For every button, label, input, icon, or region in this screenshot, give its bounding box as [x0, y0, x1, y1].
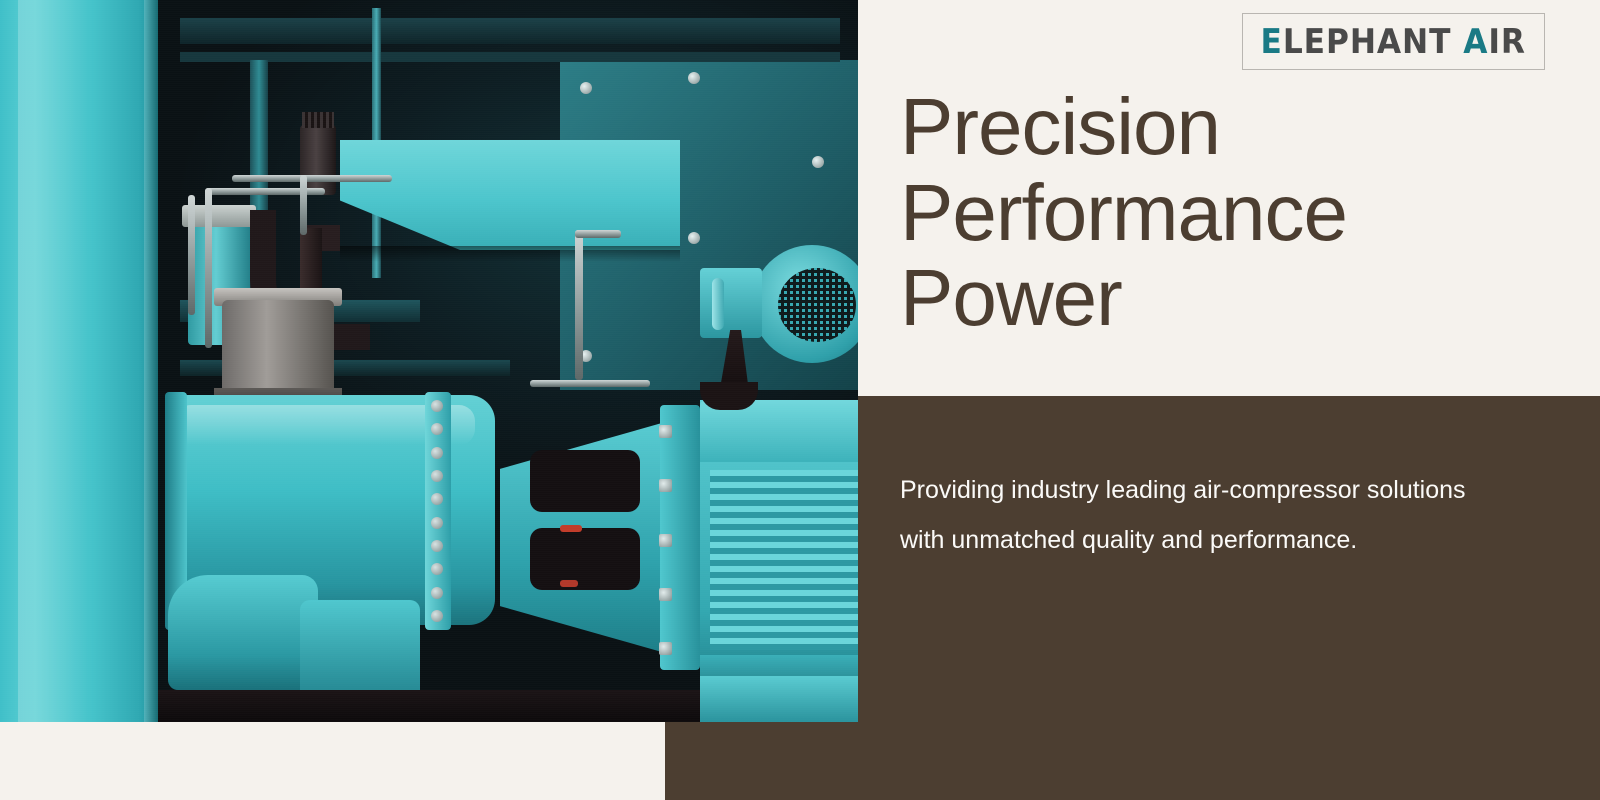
- photo-coupling-window: [530, 528, 640, 590]
- photo-red-marker: [560, 580, 578, 587]
- photo-lower-block: [300, 600, 420, 700]
- headline-line-3: Power: [900, 255, 1560, 341]
- photo-tube: [188, 195, 195, 315]
- headline-line-1: Precision: [900, 84, 1560, 170]
- footer-brown-block: [665, 722, 858, 800]
- photo-tube: [530, 380, 650, 387]
- photo-red-marker: [560, 525, 582, 532]
- photo-floor-teal-base: [700, 676, 858, 722]
- hero-description: Providing industry leading air-compresso…: [900, 466, 1510, 565]
- photo-junction-box: [700, 268, 762, 338]
- hero-photo: [0, 0, 858, 722]
- photo-tube: [232, 175, 392, 182]
- photo-motor-mount-bolts: [655, 425, 701, 655]
- photo-door-highlight: [18, 0, 88, 722]
- photo-cabinet-door: [0, 0, 158, 722]
- brand-logo-text: ELEPHANT AIR: [1261, 22, 1526, 62]
- footer-cream-block: [0, 722, 665, 800]
- brown-panel: [858, 396, 1600, 800]
- photo-coupling-window: [530, 450, 640, 512]
- photo-motor-cooling-fins: [710, 470, 858, 650]
- brand-logo[interactable]: ELEPHANT AIR: [1242, 13, 1545, 70]
- photo-tube: [575, 230, 583, 380]
- photo-tube: [300, 175, 307, 235]
- photo-tube: [205, 188, 325, 195]
- photo-tube: [205, 188, 212, 348]
- photo-fan-grille: [778, 268, 856, 342]
- headline-line-2: Performance: [900, 170, 1560, 256]
- photo-tube: [575, 230, 621, 238]
- photo-airend-bolt-row: [428, 400, 448, 622]
- photo-junction-bar: [712, 278, 724, 330]
- photo-top-rail: [180, 18, 840, 44]
- photo-top-rail-secondary: [180, 52, 840, 62]
- photo-lower-cylinder: [168, 575, 318, 690]
- photo-regulator-knob: [302, 112, 334, 128]
- photo-hood-shadow: [340, 246, 680, 262]
- photo-separator-tank: [222, 300, 334, 396]
- photo-black-lever-foot: [700, 382, 758, 410]
- page-title: Precision Performance Power: [900, 84, 1560, 341]
